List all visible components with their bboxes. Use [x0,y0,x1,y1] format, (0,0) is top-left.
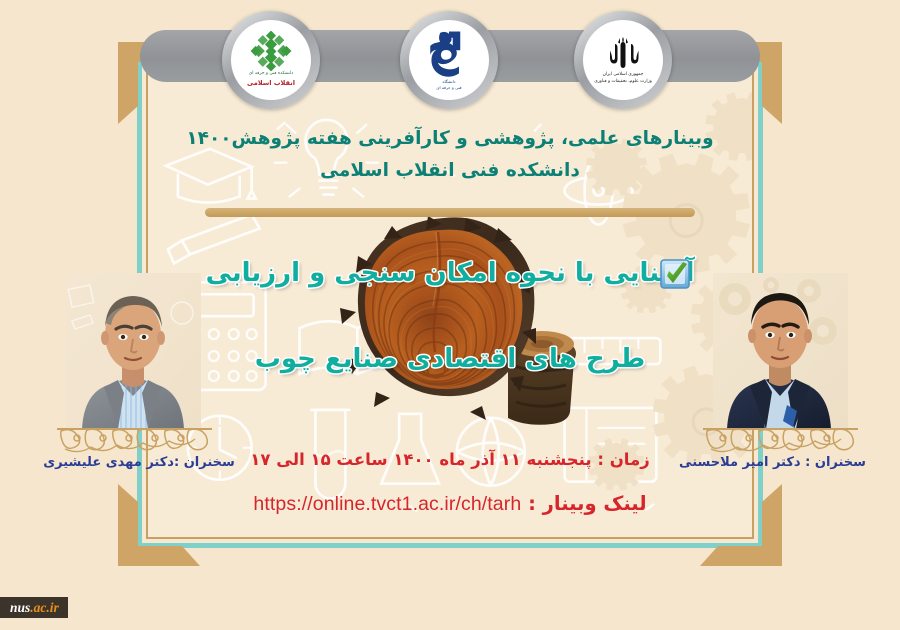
logo-3-caption-small: جمهوری اسلامی ایران [603,72,644,79]
header-line-1: وبینارهای علمی، پژوهشی و کارآفرینی هفته … [150,128,750,149]
logo-tvu-islamic-revolution: دانشکده فنی و حرفه ای انقلاب اسلامی [222,11,320,109]
checked-checkbox-icon [659,258,693,292]
title-line-2: طرح های اقتصادی صنایع چوب [0,344,900,374]
logo-1-caption-small: دانشکده فنی و حرفه ای [249,71,293,78]
logo-3-caption-bold: وزارت علوم، تحقیقات و فناوری [594,79,652,86]
header-block: وبینارهای علمی، پژوهشی و کارآفرینی هفته … [150,128,750,181]
iran-emblem-icon [605,34,641,72]
watermark-part-2: .ac.ir [30,600,59,615]
webinar-poster: دانشکده فنی و حرفه ای انقلاب اسلامی دانش… [0,0,900,630]
title-line-1: آشنایی با نحوه امکان سنجی و ارزیابی [0,258,900,288]
logo-technical-vocational-university: دانشگاه فنی و حرفه ای [400,11,498,109]
watermark-part-1: nus [10,600,30,615]
header-line-2: دانشکده فنی انقلاب اسلامی [150,160,750,181]
webinar-link-url[interactable]: https://online.tvct1.ac.ir/ch/tarh [253,493,521,515]
green-star-pattern-icon [245,31,297,71]
logo-ministry-of-science: جمهوری اسلامی ایران وزارت علوم، تحقیقات … [574,11,672,109]
logo-2-caption-bold: فنی و حرفه ای [436,85,461,91]
tree-stump-illustration [332,216,580,428]
tvu-calligraphy-icon [429,29,469,79]
logo-1-caption-bold: انقلاب اسلامی [247,78,295,88]
webinar-link-row: لینک وبینار : https://online.tvct1.ac.ir… [150,492,750,516]
gold-divider [205,208,695,217]
site-watermark: nus.ac.ir [0,597,68,619]
webinar-link-label: لینک وبینار : [528,492,647,515]
event-time-label: زمان : پنجشنبه ۱۱ آذر ماه ۱۴۰۰ ساعت ۱۵ ا… [150,450,750,469]
